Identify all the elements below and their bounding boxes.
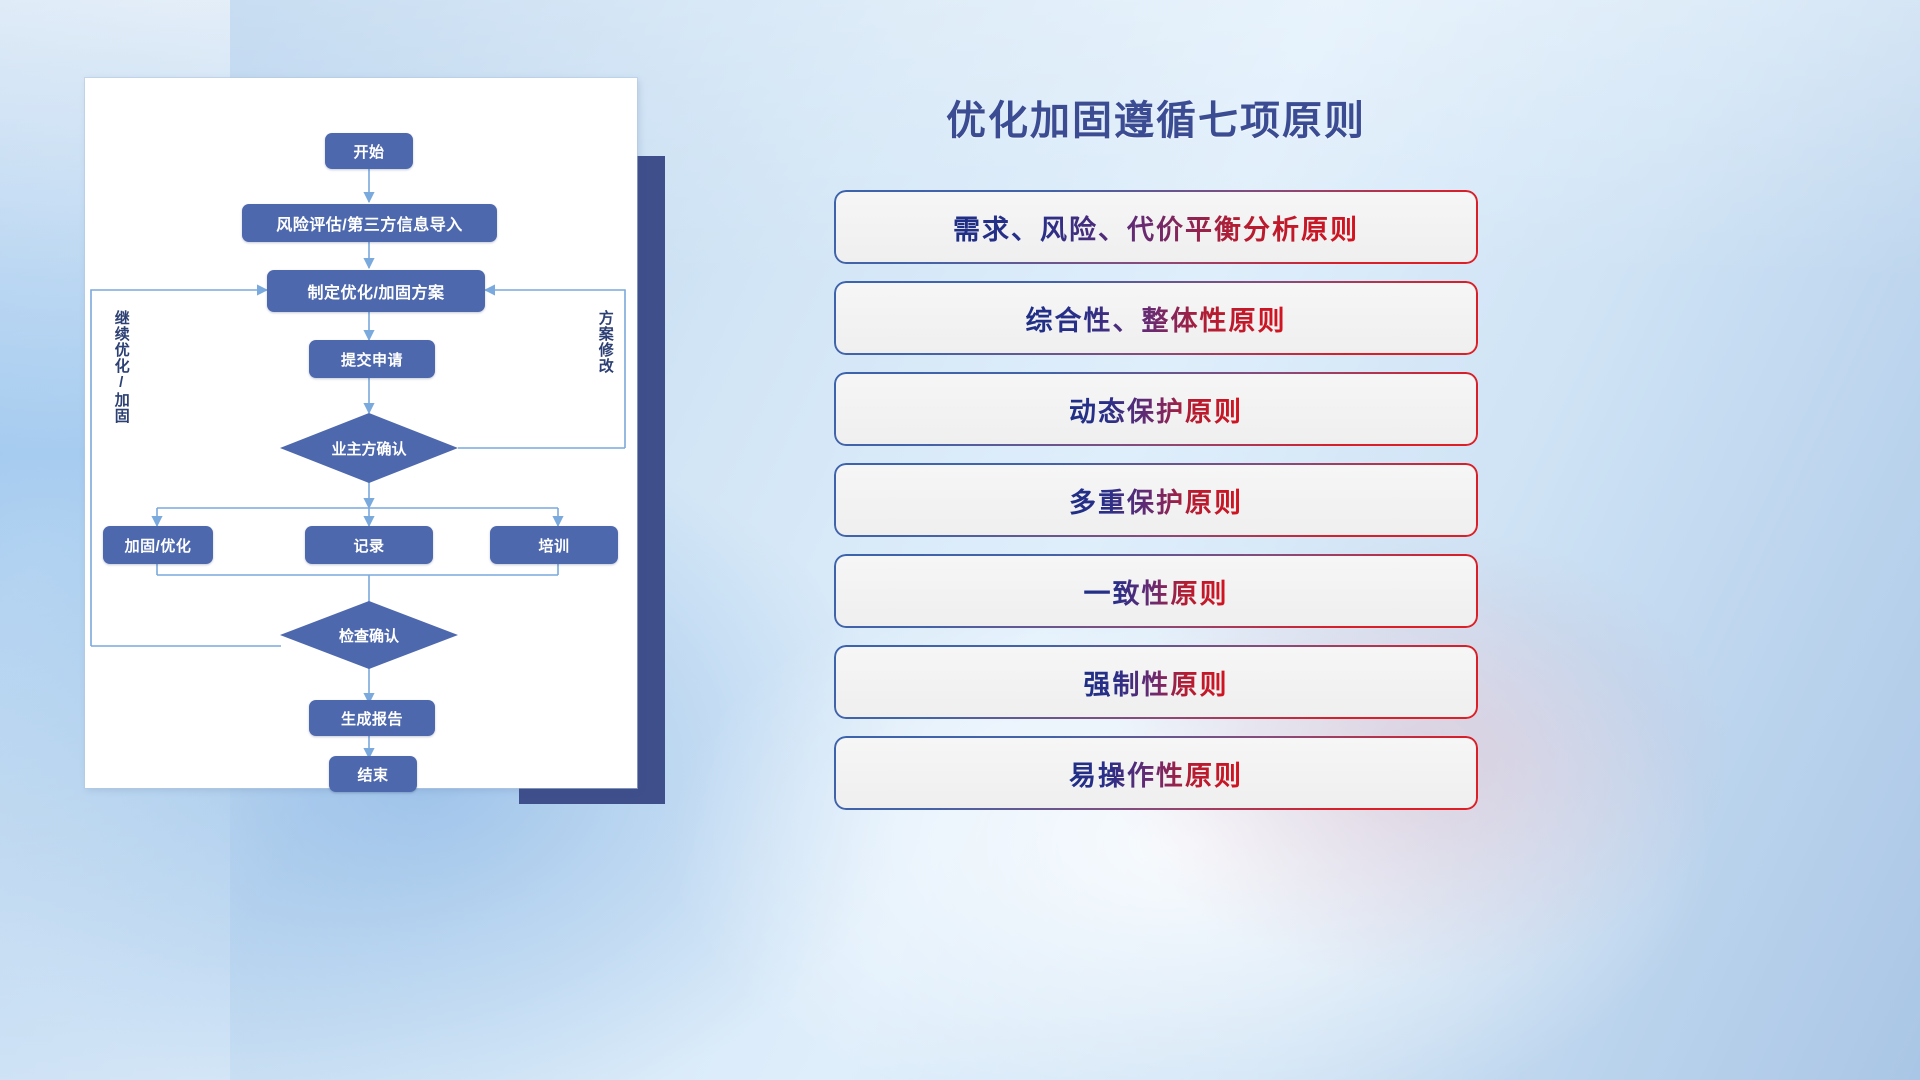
owner-confirm-text: 业主方确认 — [331, 438, 406, 459]
flow-node-reinforce-optimize[interactable]: 加固/优化 — [103, 526, 213, 564]
principle-card-3-label: 动态保护原则 — [1069, 390, 1243, 429]
principle-card-4-label: 多重保护原则 — [1069, 481, 1243, 520]
flow-node-owner-confirm-label: 业主方确认 — [280, 413, 458, 483]
flow-node-submit-application[interactable]: 提交申请 — [309, 340, 435, 378]
check-confirm-text: 检查确认 — [339, 625, 399, 646]
principle-card-1-label: 需求、风险、代价平衡分析原则 — [953, 208, 1359, 247]
flow-node-submit-application-label: 提交申请 — [341, 349, 403, 370]
flow-node-risk-assessment[interactable]: 风险评估/第三方信息导入 — [242, 204, 497, 242]
flow-node-start-label: 开始 — [353, 141, 384, 162]
principle-card-5[interactable]: 一致性原则 — [836, 556, 1476, 626]
flowchart-card: 开始 风险评估/第三方信息导入 制定优化/加固方案 提交申请 业主方确认 加固/… — [85, 78, 637, 788]
flow-node-end-label: 结束 — [357, 764, 388, 785]
principle-card-4[interactable]: 多重保护原则 — [836, 465, 1476, 535]
flow-node-reinforce-optimize-label: 加固/优化 — [125, 535, 192, 556]
flow-node-plan-label: 制定优化/加固方案 — [308, 279, 445, 303]
principles-panel: 优化加固遵循七项原则 需求、风险、代价平衡分析原则 综合性、整体性原则 动态保护… — [836, 0, 1856, 1080]
principle-card-6[interactable]: 强制性原则 — [836, 647, 1476, 717]
flow-edge-label-plan-revision: 方案修改 — [597, 310, 613, 420]
principle-card-2[interactable]: 综合性、整体性原则 — [836, 283, 1476, 353]
principle-card-7-label: 易操作性原则 — [1069, 754, 1243, 793]
flow-node-training-label: 培训 — [538, 535, 569, 556]
principle-card-7[interactable]: 易操作性原则 — [836, 738, 1476, 808]
panel-title: 优化加固遵循七项原则 — [836, 88, 1476, 146]
flow-node-generate-report-label: 生成报告 — [341, 708, 403, 729]
flow-edge-label-continue-optimize: 继续优化/加固 — [113, 310, 129, 450]
flow-node-training[interactable]: 培训 — [490, 526, 618, 564]
flow-node-record-label: 记录 — [353, 535, 384, 556]
flow-node-start[interactable]: 开始 — [325, 133, 413, 169]
flow-node-generate-report[interactable]: 生成报告 — [309, 700, 435, 736]
principle-card-6-label: 强制性原则 — [1084, 663, 1229, 702]
principle-card-1[interactable]: 需求、风险、代价平衡分析原则 — [836, 192, 1476, 262]
flow-node-record[interactable]: 记录 — [305, 526, 433, 564]
flow-node-risk-assessment-label: 风险评估/第三方信息导入 — [276, 211, 462, 235]
principle-card-5-label: 一致性原则 — [1084, 572, 1229, 611]
flow-node-end[interactable]: 结束 — [329, 756, 417, 792]
flow-node-plan[interactable]: 制定优化/加固方案 — [267, 270, 485, 312]
flow-node-check-confirm-label: 检查确认 — [280, 601, 458, 669]
principle-card-2-label: 综合性、整体性原则 — [1026, 299, 1287, 338]
principle-card-3[interactable]: 动态保护原则 — [836, 374, 1476, 444]
